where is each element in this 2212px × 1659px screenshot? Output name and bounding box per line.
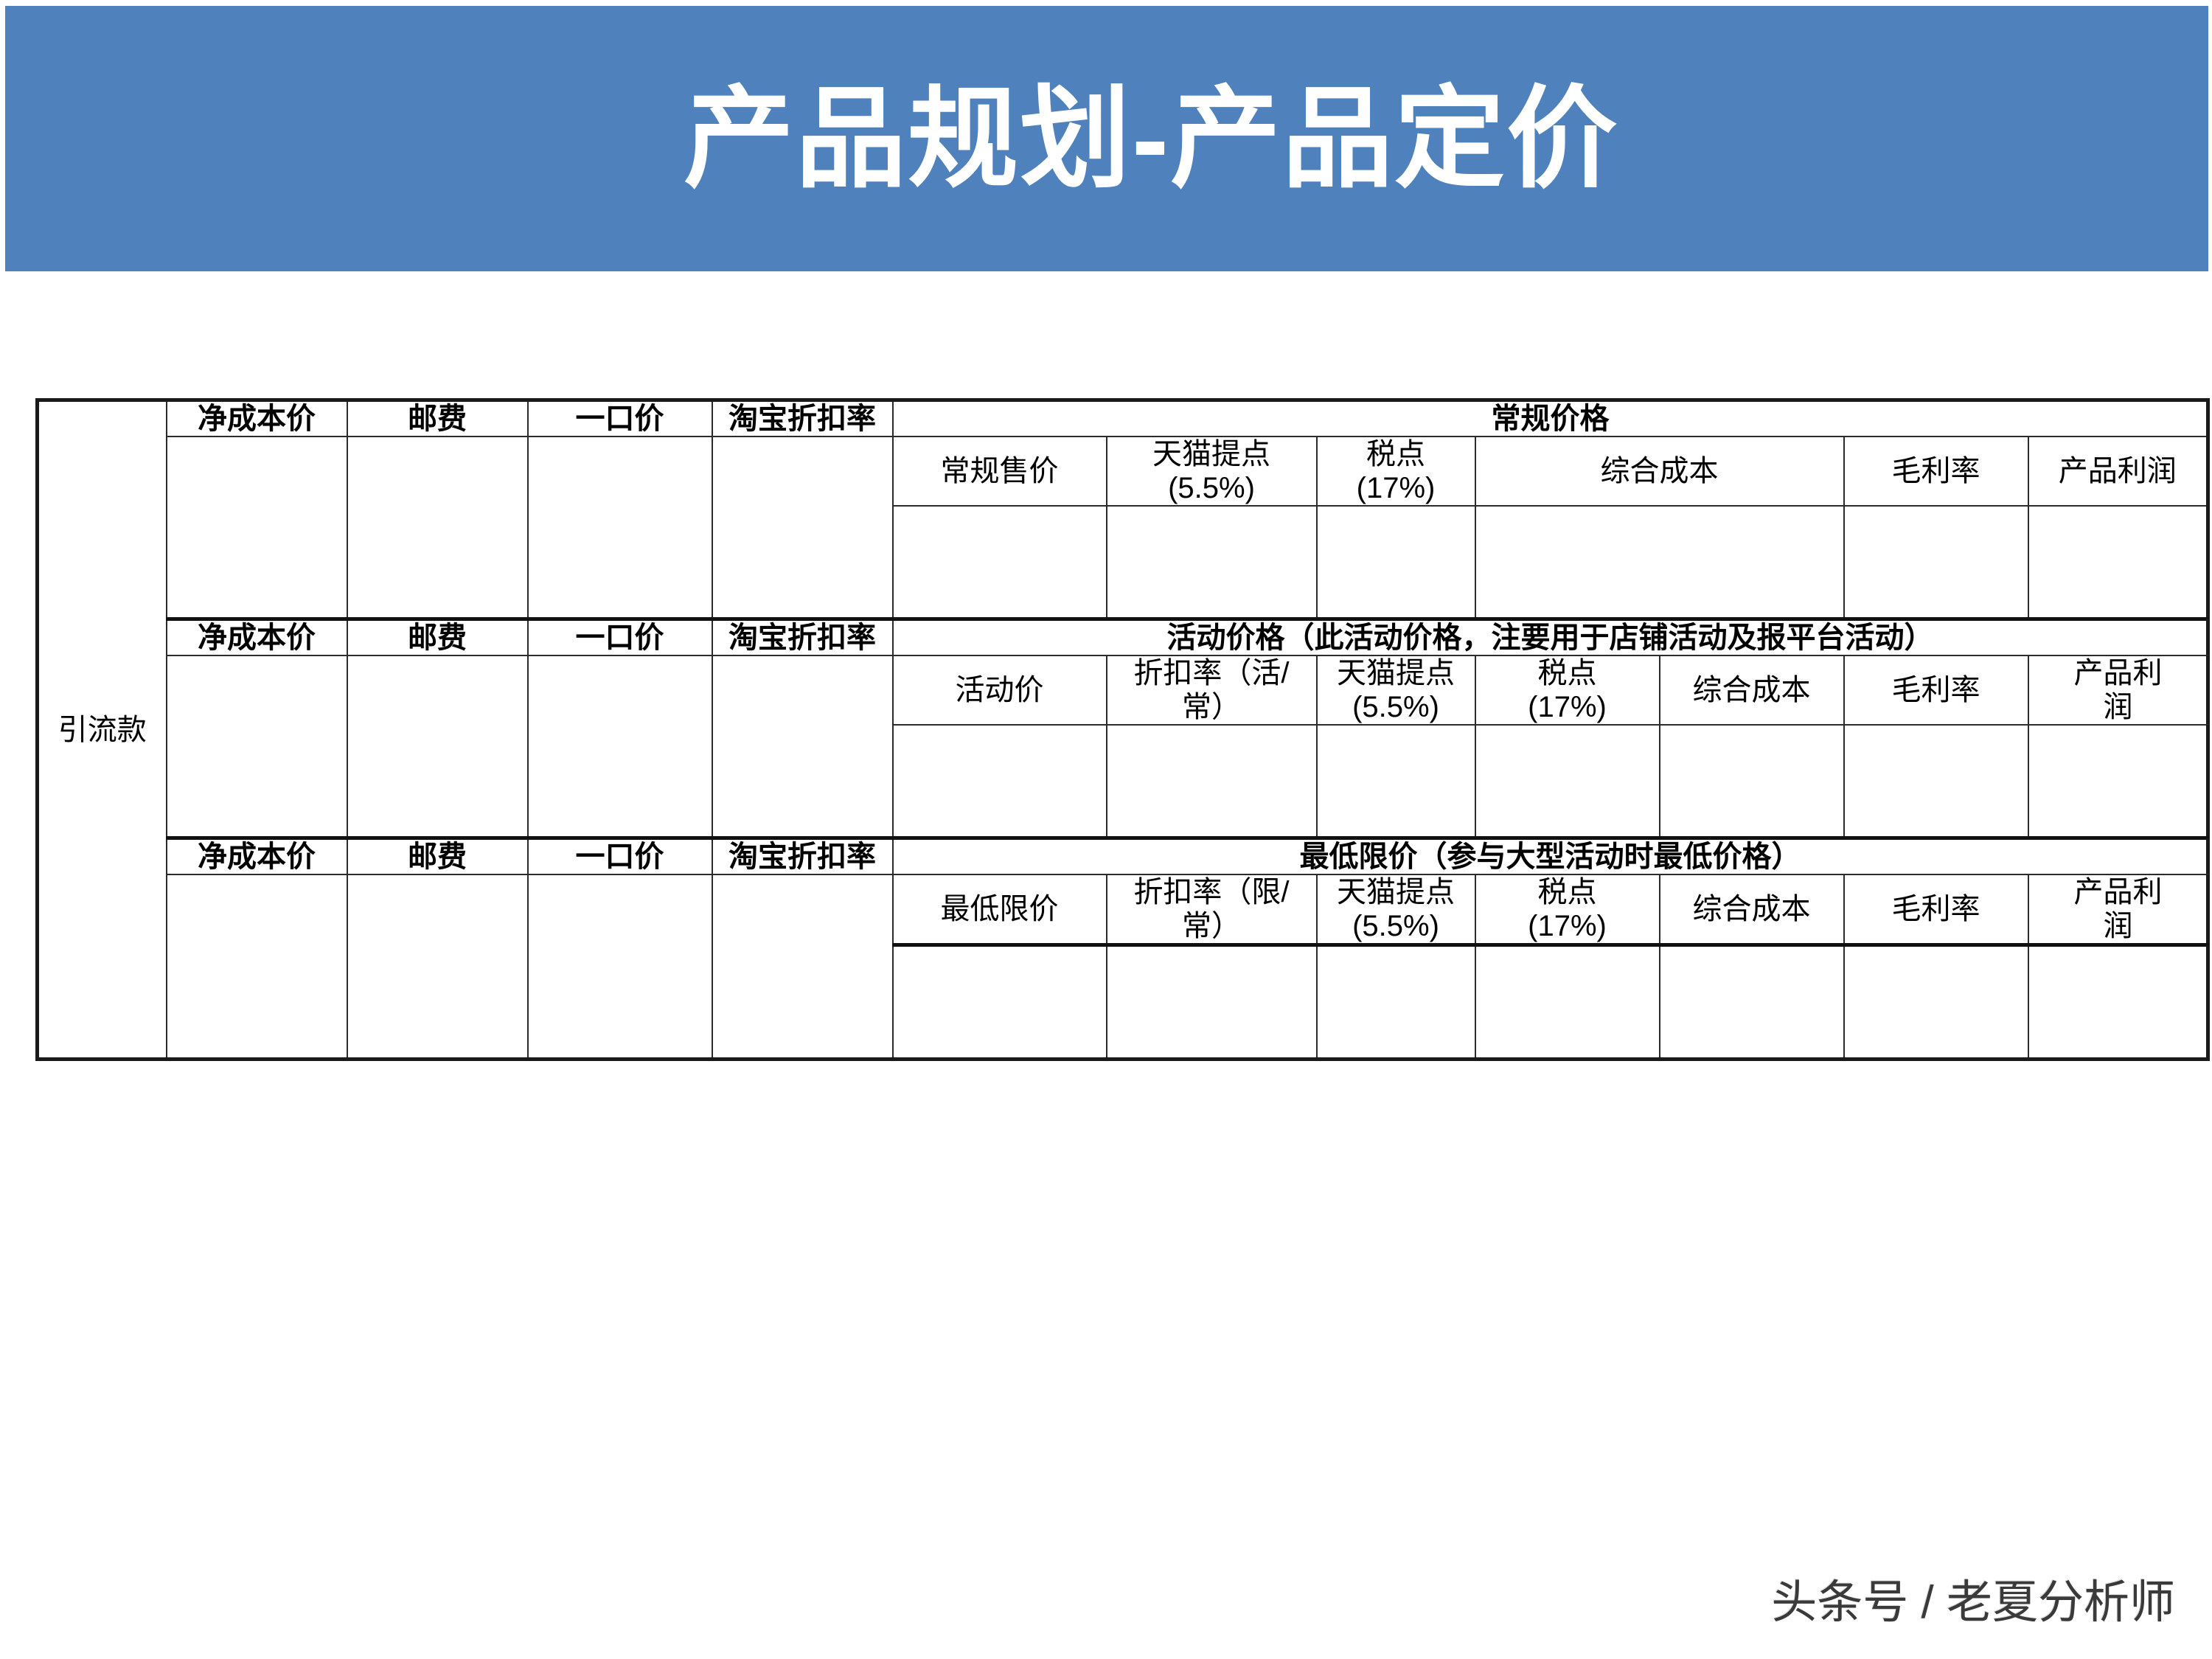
subheader-floor-discount-rate: 折扣率（限/ 常）: [1107, 874, 1317, 945]
subheader-line: 税点: [1476, 656, 1659, 690]
subheader-line: 产品利: [2029, 656, 2208, 690]
subheader-activity-tmall-commission: 天猫提点 (5.5%): [1317, 655, 1475, 725]
subheader-activity-product-profit: 产品利 润: [2028, 655, 2208, 725]
cell-activity-tmall-commission[interactable]: [1317, 725, 1475, 838]
cell-shipping-fee-regular[interactable]: [347, 437, 528, 619]
pricing-table-container: 引流款 净成本价 邮费 一口价 淘宝折扣率 常规价格 常规售价 天猫提点 (5.…: [35, 398, 2206, 1061]
subheader-line: 折扣率（活/: [1107, 656, 1316, 690]
subheader-activity-total-cost: 综合成本: [1660, 655, 1844, 725]
subheader-line: (5.5%): [1107, 471, 1316, 505]
table-row-regular-header: 引流款 净成本价 邮费 一口价 淘宝折扣率 常规价格: [38, 400, 2208, 437]
cell-net-cost-activity[interactable]: [167, 655, 347, 838]
subheader-line: 综合成本: [1660, 673, 1843, 707]
subheader-floor-gross-margin: 毛利率: [1844, 874, 2028, 945]
col-header-fixed-price: 一口价: [528, 400, 712, 437]
cell-floor-tmall-commission[interactable]: [1317, 945, 1475, 1060]
col-header-taobao-discount-rate: 淘宝折扣率: [712, 400, 893, 437]
subheader-line: 综合成本: [1476, 454, 1843, 488]
subheader-line: (17%): [1476, 690, 1659, 724]
subheader-activity-price: 活动价: [893, 655, 1107, 725]
cell-regular-gross-margin[interactable]: [1844, 506, 2028, 619]
page-title: 产品规划-产品定价: [684, 83, 1618, 194]
subheader-line: 税点: [1476, 875, 1659, 909]
subheader-line: (5.5%): [1318, 690, 1475, 724]
table-row-activity-subheader: 活动价 折扣率（活/ 常） 天猫提点 (5.5%) 税点 (17%) 综合成本 …: [38, 655, 2208, 725]
cell-fixed-price-floor[interactable]: [528, 874, 712, 1060]
col-header-shipping-fee-activity: 邮费: [347, 619, 528, 656]
title-band: 产品规划-产品定价: [5, 6, 2208, 271]
cell-taobao-discount-activity[interactable]: [712, 655, 893, 838]
table-row-activity-header: 净成本价 邮费 一口价 淘宝折扣率 活动价格（此活动价格，注要用于店铺活动及报平…: [38, 619, 2208, 656]
subheader-line: 产品利润: [2029, 454, 2207, 488]
cell-activity-tax-point[interactable]: [1475, 725, 1660, 838]
cell-regular-product-profit[interactable]: [2028, 506, 2208, 619]
cell-taobao-discount-regular[interactable]: [712, 437, 893, 619]
subheader-line: (17%): [1318, 471, 1475, 505]
subheader-line: 常）: [1107, 690, 1316, 724]
subheader-floor-product-profit: 产品利 润: [2028, 874, 2208, 945]
cell-fixed-price-regular[interactable]: [528, 437, 712, 619]
subheader-total-cost: 综合成本: [1475, 437, 1844, 506]
subheader-line: 润: [2029, 909, 2208, 943]
table-row-floor-header: 净成本价 邮费 一口价 淘宝折扣率 最低限价（参与大型活动时最低价格）: [38, 838, 2208, 875]
subheader-line: 毛利率: [1845, 892, 2028, 926]
cell-shipping-fee-floor[interactable]: [347, 874, 528, 1060]
row-label-traffic-item: 引流款: [38, 400, 167, 1060]
cell-activity-product-profit[interactable]: [2028, 725, 2208, 838]
subheader-line: 产品利: [2029, 875, 2208, 909]
cell-floor-discount-rate[interactable]: [1107, 945, 1317, 1060]
subheader-gross-margin: 毛利率: [1844, 437, 2028, 506]
cell-activity-discount-rate[interactable]: [1107, 725, 1317, 838]
subheader-line: 常规售价: [894, 454, 1106, 488]
col-header-taobao-discount-rate-floor: 淘宝折扣率: [712, 838, 893, 875]
col-header-fixed-price-activity: 一口价: [528, 619, 712, 656]
subheader-line: 天猫提点: [1318, 656, 1475, 690]
col-header-net-cost-floor: 净成本价: [167, 838, 347, 875]
col-header-net-cost: 净成本价: [167, 400, 347, 437]
cell-fixed-price-activity[interactable]: [528, 655, 712, 838]
subheader-activity-discount-rate: 折扣率（活/ 常）: [1107, 655, 1317, 725]
section-title-floor-price: 最低限价（参与大型活动时最低价格）: [893, 838, 2208, 875]
subheader-floor-price: 最低限价: [893, 874, 1107, 945]
section-title-activity-price: 活动价格（此活动价格，注要用于店铺活动及报平台活动）: [893, 619, 2208, 656]
subheader-floor-tmall-commission: 天猫提点 (5.5%): [1317, 874, 1475, 945]
table-row-floor-subheader: 最低限价 折扣率（限/ 常） 天猫提点 (5.5%) 税点 (17%) 综合成本…: [38, 874, 2208, 945]
section-title-regular-price: 常规价格: [893, 400, 2208, 437]
col-header-shipping-fee-floor: 邮费: [347, 838, 528, 875]
subheader-tmall-commission: 天猫提点 (5.5%): [1107, 437, 1317, 506]
cell-floor-gross-margin[interactable]: [1844, 945, 2028, 1060]
subheader-line: 天猫提点: [1107, 437, 1316, 471]
cell-net-cost-regular[interactable]: [167, 437, 347, 619]
cell-floor-product-profit[interactable]: [2028, 945, 2208, 1060]
subheader-line: (5.5%): [1318, 909, 1475, 943]
col-header-shipping-fee: 邮费: [347, 400, 528, 437]
subheader-line: (17%): [1476, 909, 1659, 943]
subheader-activity-tax-point: 税点 (17%): [1475, 655, 1660, 725]
subheader-regular-selling-price: 常规售价: [893, 437, 1107, 506]
col-header-taobao-discount-rate-activity: 淘宝折扣率: [712, 619, 893, 656]
col-header-fixed-price-floor: 一口价: [528, 838, 712, 875]
cell-activity-price[interactable]: [893, 725, 1107, 838]
subheader-line: 税点: [1318, 437, 1475, 471]
subheader-line: 毛利率: [1845, 454, 2028, 488]
cell-activity-total-cost[interactable]: [1660, 725, 1844, 838]
subheader-line: 常）: [1107, 909, 1316, 943]
subheader-line: 折扣率（限/: [1107, 875, 1316, 909]
table-row-regular-subheader: 常规售价 天猫提点 (5.5%) 税点 (17%) 综合成本 毛利率 产品利润: [38, 437, 2208, 506]
subheader-line: 最低限价: [894, 892, 1106, 926]
cell-regular-tmall-commission[interactable]: [1107, 506, 1317, 619]
cell-floor-price[interactable]: [893, 945, 1107, 1060]
subheader-activity-gross-margin: 毛利率: [1844, 655, 2028, 725]
subheader-line: 毛利率: [1845, 673, 2028, 707]
col-header-net-cost-activity: 净成本价: [167, 619, 347, 656]
subheader-line: 润: [2029, 690, 2208, 724]
cell-net-cost-floor[interactable]: [167, 874, 347, 1060]
cell-regular-selling-price[interactable]: [893, 506, 1107, 619]
subheader-line: 活动价: [894, 673, 1106, 707]
subheader-floor-total-cost: 综合成本: [1660, 874, 1844, 945]
cell-floor-tax-point[interactable]: [1475, 945, 1660, 1060]
cell-floor-total-cost[interactable]: [1660, 945, 1844, 1060]
cell-activity-gross-margin[interactable]: [1844, 725, 2028, 838]
subheader-floor-tax-point: 税点 (17%): [1475, 874, 1660, 945]
cell-regular-total-cost[interactable]: [1475, 506, 1844, 619]
subheader-tax-point: 税点 (17%): [1317, 437, 1475, 506]
pricing-table: 引流款 净成本价 邮费 一口价 淘宝折扣率 常规价格 常规售价 天猫提点 (5.…: [35, 398, 2210, 1061]
cell-taobao-discount-floor[interactable]: [712, 874, 893, 1060]
cell-regular-tax-point[interactable]: [1317, 506, 1475, 619]
subheader-line: 天猫提点: [1318, 875, 1475, 909]
subheader-product-profit: 产品利润: [2028, 437, 2208, 506]
subheader-line: 综合成本: [1660, 892, 1843, 926]
watermark: 头条号 / 老夏分析师: [1771, 1565, 2175, 1631]
cell-shipping-fee-activity[interactable]: [347, 655, 528, 838]
